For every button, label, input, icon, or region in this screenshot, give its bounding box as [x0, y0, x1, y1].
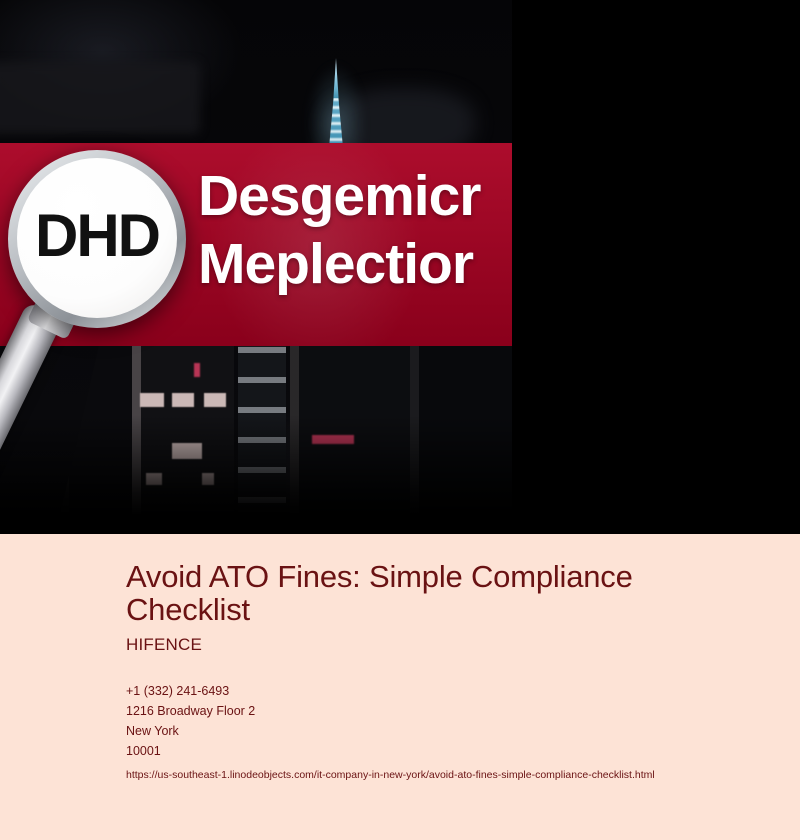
- magnifier-lens: DHD: [17, 158, 177, 318]
- foreground-blur-shape: [0, 62, 200, 134]
- contact-street: 1216 Broadway Floor 2: [126, 701, 746, 721]
- brand-name: HIFENCE: [126, 635, 746, 655]
- contact-city: New York: [126, 721, 746, 741]
- hero-banner: Desgemicr Meplectior DHD: [0, 0, 800, 534]
- contact-details: +1 (332) 241-6493 1216 Broadway Floor 2 …: [126, 681, 746, 761]
- magnifier-ring: DHD: [8, 150, 186, 328]
- content-inner: Avoid ATO Fines: Simple Compliance Check…: [126, 560, 746, 783]
- hero-photo: Desgemicr Meplectior DHD: [0, 0, 512, 515]
- contact-phone: +1 (332) 241-6493: [126, 681, 746, 701]
- content-section: Avoid ATO Fines: Simple Compliance Check…: [0, 534, 800, 840]
- brand-logo-text: DHD: [35, 206, 159, 266]
- page-root: Desgemicr Meplectior DHD Avoid: [0, 0, 800, 840]
- spire-needle: [333, 58, 339, 104]
- page-title: Avoid ATO Fines: Simple Compliance Check…: [126, 560, 746, 627]
- magnifying-glass: DHD: [8, 150, 308, 490]
- source-url[interactable]: https://us-southeast-1.linodeobjects.com…: [126, 767, 746, 783]
- contact-zip: 10001: [126, 741, 746, 761]
